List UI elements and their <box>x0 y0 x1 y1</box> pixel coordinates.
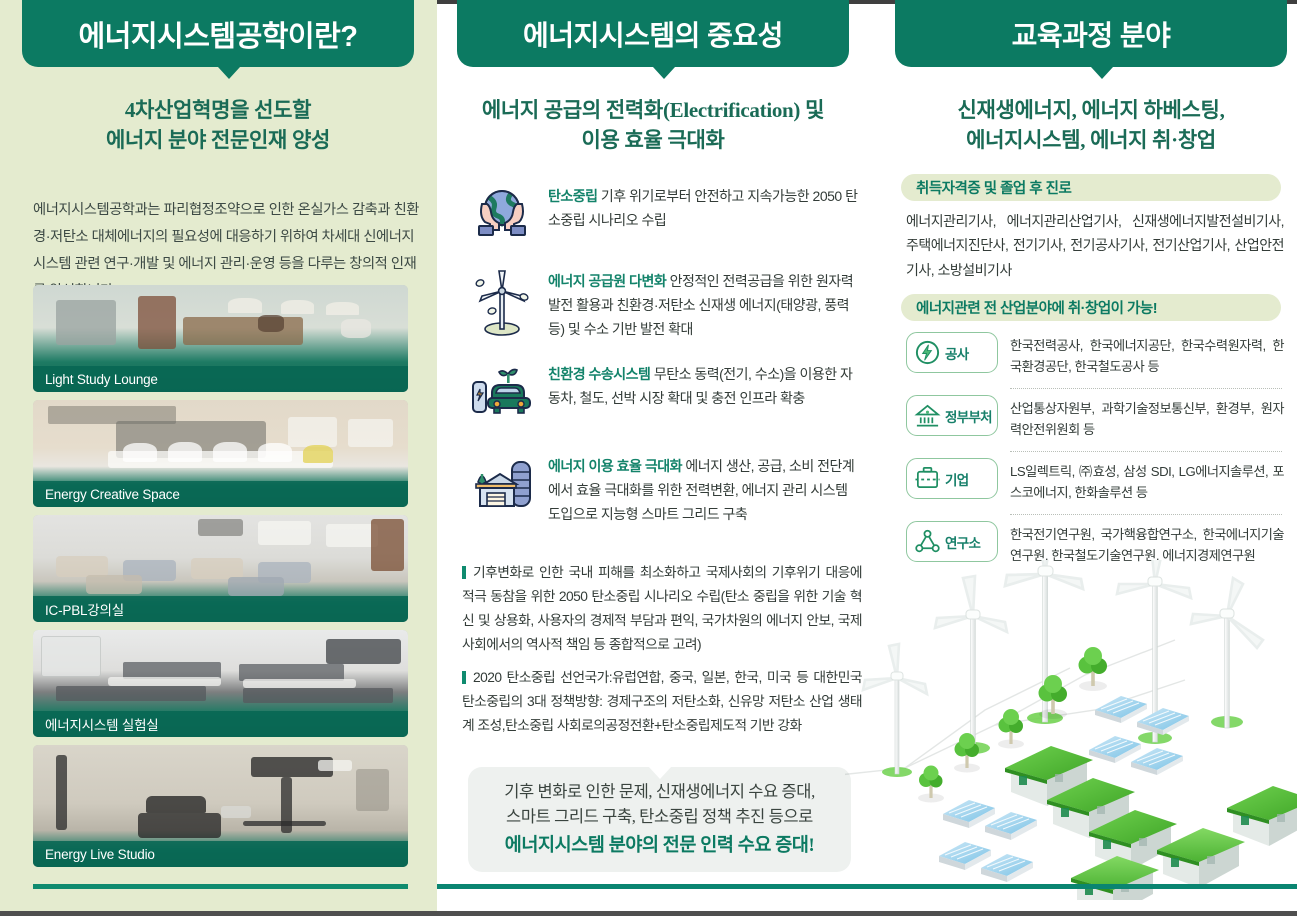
employer-badge-label: 정부부처 <box>945 406 992 426</box>
importance-item-efficiency: 에너지 이용 효율 극대화 에너지 생산, 공급, 소비 전단계에서 효율 극대… <box>470 452 862 526</box>
renewable-energy-village-illustration <box>845 560 1297 900</box>
tab-title-right: 교육과정 분야 <box>1012 14 1171 54</box>
photo-caption: 에너지시스템 실험실 <box>33 711 408 737</box>
employer-badge[interactable]: 연구소 <box>906 521 998 562</box>
icpbl-classroom-photo: IC-PBL강의실 <box>33 515 408 622</box>
ev-charging-car-icon <box>470 360 534 430</box>
employer-description: 한국전력공사, 한국에너지공단, 한국수력원자력, 한국환경공단, 한국철도공사… <box>1010 332 1284 377</box>
left-bottom-rule <box>33 884 408 889</box>
employer-row-public-corp: 공사 한국전력공사, 한국에너지공단, 한국수력원자력, 한국환경공단, 한국철… <box>906 332 1284 377</box>
wind-turbine-icon <box>470 267 534 337</box>
employer-description: LS일렉트릭, ㈜효성, 삼성 SDI, LG에너지솔루션, 포스코에너지, 한… <box>1010 458 1284 503</box>
demand-callout-box: 기후 변화로 인한 문제, 신재생에너지 수요 증대, 스마트 그리드 구축, … <box>468 767 851 872</box>
government-building-icon <box>914 402 941 429</box>
photo-caption: Light Study Lounge <box>33 366 408 392</box>
brochure-page: 에너지시스템공학이란? 4차산업혁명을 선도할에너지 분야 전문인재 양성 에너… <box>0 0 1297 916</box>
bullet-marker-icon <box>462 566 466 579</box>
certificates-text: 에너지관리기사, 에너지관리산업기사, 신재생에너지발전설비기사, 주택에너지진… <box>906 209 1284 282</box>
callout-line-2: 스마트 그리드 구축, 탄소중립 정책 추진 등으로 <box>506 804 813 830</box>
employer-badge[interactable]: 공사 <box>906 332 998 373</box>
tab-title-middle: 에너지시스템의 중요성 <box>523 14 783 54</box>
earth-in-hands-icon <box>470 182 534 252</box>
tab-notch-left <box>218 67 240 79</box>
callout-highlight: 에너지시스템 분야의 전문 인력 수요 증대! <box>505 832 814 861</box>
bottom-rule <box>437 884 1297 889</box>
importance-item-lead: 에너지 이용 효율 극대화 <box>548 458 682 474</box>
importance-item-supply-diversification: 에너지 공급원 다변화 안정적인 전력공급을 위한 원자력 발전 활용과 친환경… <box>470 267 862 341</box>
photo-caption: Energy Creative Space <box>33 481 408 507</box>
callout-notch <box>648 766 672 779</box>
callout-line-1: 기후 변화로 인한 문제, 신재생에너지 수요 증대, <box>504 779 815 805</box>
creative-space-photo: Energy Creative Space <box>33 400 408 507</box>
briefcase-icon <box>914 465 941 492</box>
importance-item-carbon-neutral: 탄소중립 기후 위기로부터 안전하고 지속가능한 2050 탄소중립 시나리오 … <box>470 182 862 252</box>
subtitle-middle: 에너지 공급의 전력화(Electrification) 및이용 효율 극대화 <box>457 96 849 156</box>
employer-separator <box>1010 514 1282 515</box>
certificates-pill-header: 취득자격증 및 졸업 후 진로 <box>901 174 1281 201</box>
employer-description: 산업통상자원부, 과학기술정보통신부, 환경부, 원자력안전위원회 등 <box>1010 395 1284 440</box>
employer-badge[interactable]: 정부부처 <box>906 395 998 436</box>
employer-badge-label: 기업 <box>945 469 968 489</box>
tab-notch-middle <box>653 67 675 79</box>
employer-separator <box>1010 388 1282 389</box>
importance-item-lead: 친환경 수송시스템 <box>548 366 650 382</box>
employment-pill-header: 에너지관련 전 산업분야에 취·창업이 가능! <box>901 294 1281 321</box>
importance-item-green-transport: 친환경 수송시스템 무탄소 동력(전기, 수소)을 이용한 자동차, 철도, 선… <box>470 360 862 430</box>
subtitle-right: 신재생에너지, 에너지 하베스팅,에너지시스템, 에너지 취·창업 <box>895 96 1287 156</box>
bullet-paragraph-scenario: 기후변화로 인한 국내 피해를 최소화하고 국제사회의 기후위기 대응에 적극 … <box>462 561 862 658</box>
importance-item-lead: 탄소중립 <box>548 188 598 204</box>
study-lounge-photo: Light Study Lounge <box>33 285 408 392</box>
research-node-icon <box>914 528 941 555</box>
importance-item-lead: 에너지 공급원 다변화 <box>548 273 666 289</box>
energy-lab-photo: 에너지시스템 실험실 <box>33 630 408 737</box>
tab-notch-right <box>1091 67 1113 79</box>
employer-row-company: 기업 LS일렉트릭, ㈜효성, 삼성 SDI, LG에너지솔루션, 포스코에너지… <box>906 458 1284 503</box>
importance-item-text: 에너지 공급원 다변화 안정적인 전력공급을 위한 원자력 발전 활용과 친환경… <box>548 267 862 341</box>
bullet-text: 기후변화로 인한 국내 피해를 최소화하고 국제사회의 기후위기 대응에 적극 … <box>462 565 862 652</box>
tab-title-left: 에너지시스템공학이란? <box>78 13 357 55</box>
employer-badge-label: 공사 <box>945 343 968 363</box>
importance-item-text: 탄소중립 기후 위기로부터 안전하고 지속가능한 2050 탄소중립 시나리오 … <box>548 182 862 232</box>
tab-importance-of-energy-systems[interactable]: 에너지시스템의 중요성 <box>457 0 849 67</box>
importance-item-text: 친환경 수송시스템 무탄소 동력(전기, 수소)을 이용한 자동차, 철도, 선… <box>548 360 862 410</box>
smart-factory-icon <box>470 452 534 522</box>
bullet-text: 2020 탄소중립 선언국가:유럽연합, 중국, 일본, 한국, 미국 등 대한… <box>462 670 862 733</box>
bullet-paragraph-declarations: 2020 탄소중립 선언국가:유럽연합, 중국, 일본, 한국, 미국 등 대한… <box>462 666 862 738</box>
live-studio-photo: Energy Live Studio <box>33 745 408 867</box>
photo-caption: IC-PBL강의실 <box>33 596 408 622</box>
energy-bolt-icon <box>914 339 941 366</box>
employer-separator <box>1010 451 1282 452</box>
photo-caption: Energy Live Studio <box>33 841 408 867</box>
employer-badge[interactable]: 기업 <box>906 458 998 499</box>
employer-badge-label: 연구소 <box>945 532 980 552</box>
employer-row-government: 정부부처 산업통상자원부, 과학기술정보통신부, 환경부, 원자력안전위원회 등 <box>906 395 1284 440</box>
tab-what-is-energy-systems-engineering[interactable]: 에너지시스템공학이란? <box>22 0 414 67</box>
bullet-marker-icon <box>462 671 466 684</box>
frame-bottom-border <box>0 911 1297 916</box>
tab-curriculum-areas[interactable]: 교육과정 분야 <box>895 0 1287 67</box>
subtitle-left: 4차산업혁명을 선도할에너지 분야 전문인재 양성 <box>22 96 414 156</box>
importance-item-text: 에너지 이용 효율 극대화 에너지 생산, 공급, 소비 전단계에서 효율 극대… <box>548 452 862 526</box>
